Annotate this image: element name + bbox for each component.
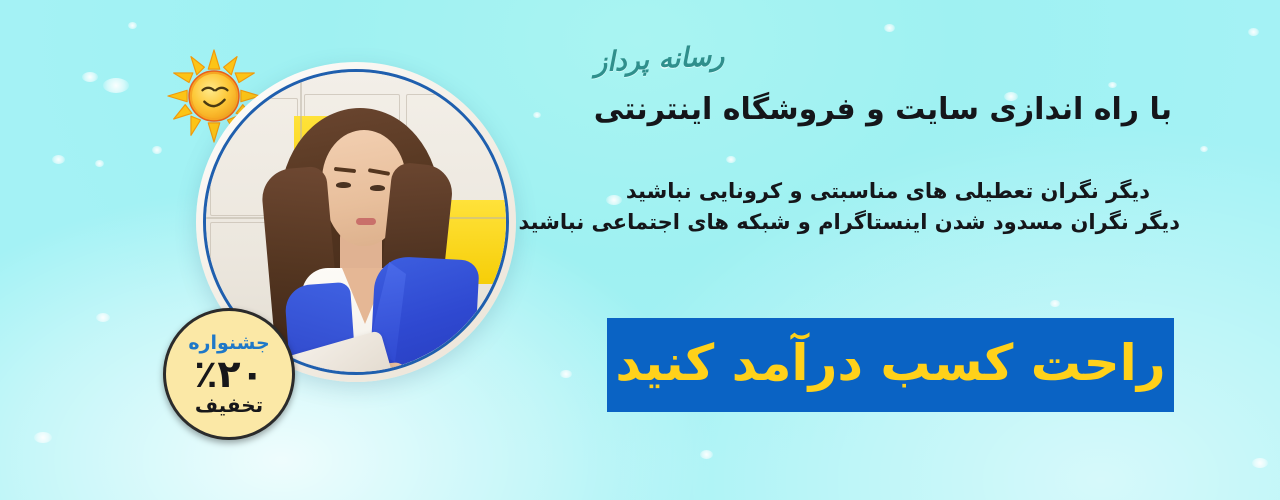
bokeh-dot [52, 155, 65, 164]
lips [356, 218, 376, 225]
bokeh-dot [884, 24, 895, 32]
subheadline-line-1: دیگر نگران تعطیلی های مناسبتی و کرونایی … [596, 176, 1180, 207]
cta-label: راحت کسب درآمد کنید [615, 338, 1165, 392]
bokeh-dot [1252, 458, 1268, 468]
eye [336, 182, 351, 188]
subheadline-group: دیگر نگران تعطیلی های مناسبتی و کرونایی … [596, 176, 1180, 238]
bokeh-dot [1050, 300, 1060, 307]
bokeh-dot [34, 432, 52, 443]
bokeh-dot [1248, 28, 1259, 36]
cta-button[interactable]: راحت کسب درآمد کنید [607, 318, 1174, 412]
promo-banner: جشنواره ٪۲۰ تخفیف رسانه پرداز با راه اند… [0, 0, 1280, 500]
subheadline-line-2: دیگر نگران مسدود شدن اینستاگرام و شبکه ه… [596, 207, 1180, 238]
discount-badge[interactable]: جشنواره ٪۲۰ تخفیف [163, 308, 295, 440]
bokeh-dot [128, 22, 137, 29]
bokeh-dot [103, 78, 129, 93]
bokeh-dot [560, 370, 572, 378]
bokeh-dot [96, 313, 110, 322]
bokeh-dot [1108, 82, 1117, 88]
bokeh-dot [82, 72, 98, 82]
badge-festival-label: جشنواره [188, 334, 269, 353]
bokeh-dot [700, 450, 713, 459]
bokeh-dot [1200, 146, 1208, 152]
bokeh-dot [533, 112, 541, 118]
bokeh-dot [152, 146, 162, 154]
headline: با راه اندازی سایت و فروشگاه اینترنتی [620, 92, 1172, 127]
bokeh-dot [726, 156, 736, 163]
brand-logo: رسانه پرداز [593, 41, 725, 79]
bokeh-dot [95, 160, 104, 167]
badge-percent-value: ٪۲۰ [194, 355, 264, 393]
badge-discount-label: تخفیف [195, 395, 263, 415]
eye [370, 185, 385, 191]
